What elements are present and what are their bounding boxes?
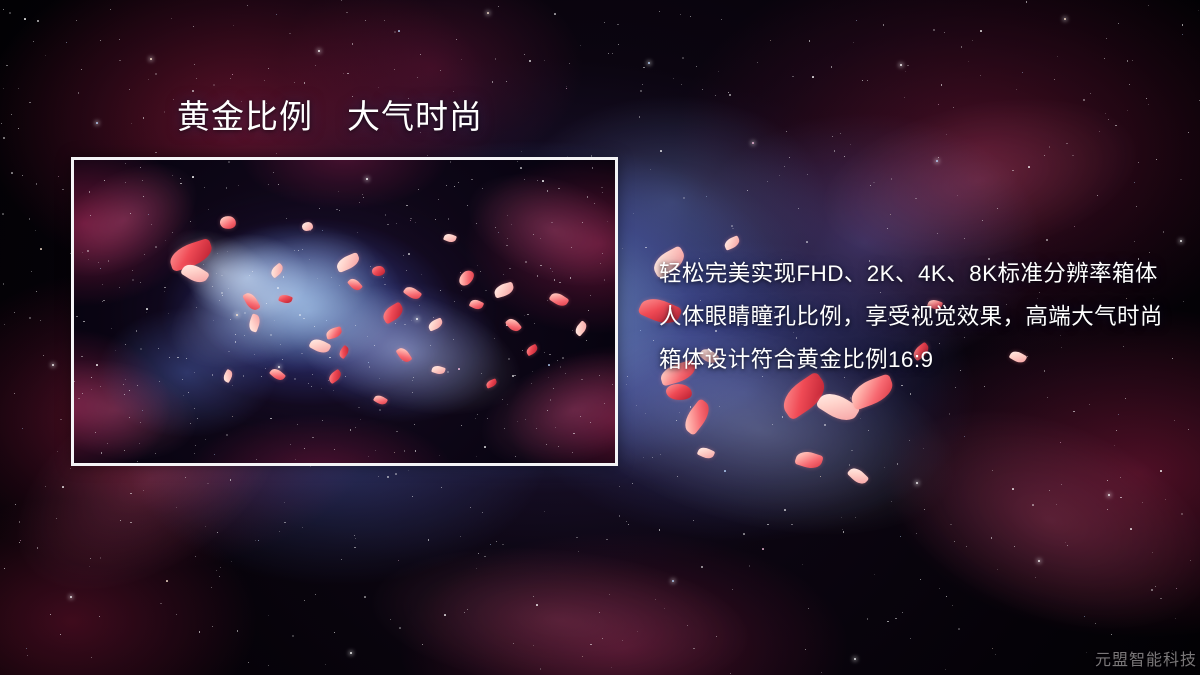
star-dot [35,230,37,232]
star-dot [40,248,42,250]
star-dot [302,527,303,528]
star-dot [1148,5,1149,6]
star-dot [1,123,2,124]
star-dot [354,547,355,548]
star-dot [1073,411,1075,413]
star-dot [566,86,567,87]
star-dot [992,648,993,649]
star-dot [440,70,441,71]
star-dot [653,340,654,341]
star-dot [923,448,924,449]
star-dot [268,665,269,666]
star-dot [626,521,627,522]
star-dot [76,20,78,22]
star-dot [938,104,939,105]
star-dot [984,386,985,387]
star-dot [4,324,5,325]
star-dot [991,537,992,538]
body-copy-line-3: 箱体设计符合黄金比例16:9 [659,338,1179,381]
star-dot [1035,577,1036,578]
star-dot [883,24,884,25]
star-dot [212,626,213,627]
star-dot [891,501,892,502]
star-dot [762,548,764,550]
star-dot [718,71,719,72]
star-dot [185,477,186,478]
star-dot [1151,589,1152,590]
star-dot [334,632,335,633]
star-dot [602,638,603,639]
star-dot [173,99,174,100]
star-dot [100,40,101,41]
star-dot [664,608,665,609]
star-dot [1057,56,1058,57]
star-dot [578,551,579,552]
star-dot [412,496,413,497]
rose-petal [815,387,861,427]
star-dot [1198,10,1199,11]
star-dot [1056,504,1057,505]
star-dot [284,522,285,523]
star-dot [29,102,30,103]
star-dot [544,511,545,512]
star-dot [232,74,233,75]
star-dot [958,628,960,630]
star-dot [860,418,861,419]
star-dot [395,473,397,475]
star-dot [767,181,768,182]
star-dot [460,536,461,537]
star-dot [599,612,600,613]
star-dot [399,627,401,629]
star-dot [487,12,489,14]
star-dot [855,517,856,518]
star-dot [843,531,844,532]
star-dot [318,50,320,52]
star-dot [1012,488,1014,490]
star-dot [66,42,67,43]
star-dot [1155,586,1156,587]
star-dot [150,58,152,60]
star-dot [350,652,352,654]
star-dot [862,80,863,81]
star-dot [268,68,269,69]
star-dot [884,467,885,468]
star-dot [304,82,305,83]
star-dot [730,673,731,674]
star-dot [521,151,522,152]
star-dot [805,649,806,650]
star-dot [576,537,578,539]
star-dot [1028,166,1030,168]
star-dot [148,79,149,80]
star-dot [910,638,911,639]
star-dot [216,570,217,571]
star-dot [982,220,983,221]
star-dot [1148,104,1149,105]
star-dot [702,89,703,90]
star-dot [354,535,355,536]
star-dot [444,614,446,616]
star-dot [70,596,72,598]
star-dot [1176,588,1177,589]
star-dot [582,656,583,657]
star-dot [953,107,954,108]
star-dot [1182,34,1183,35]
star-dot [752,142,754,144]
star-dot [659,529,660,530]
star-dot [1134,182,1135,183]
star-dot [384,20,385,21]
star-dot [900,64,902,66]
star-dot [910,393,911,394]
star-dot [590,644,591,645]
star-dot [679,412,680,413]
star-dot [99,616,100,617]
star-dot [91,657,92,658]
star-dot [701,566,702,567]
star-dot [643,457,644,458]
star-dot [950,524,951,525]
star-dot [946,596,947,597]
star-dot [70,468,71,469]
star-dot [808,608,809,609]
star-dot [40,320,41,321]
star-dot [696,66,697,67]
photo-content [74,160,615,463]
star-dot [36,183,38,185]
star-dot [166,580,168,582]
star-dot [194,64,195,65]
star-dot [279,531,280,532]
star-dot [724,470,726,472]
rose-petal [679,398,714,436]
star-dot [682,57,684,59]
star-dot [247,5,248,6]
star-dot [609,594,610,595]
star-dot [14,393,15,394]
star-dot [1175,618,1176,619]
body-copy: 轻松完美实现FHD、2K、4K、8K标准分辨率箱体 人体眼睛瞳孔比例，享受视觉效… [659,252,1179,381]
star-dot [715,95,716,96]
star-dot [390,619,391,620]
star-dot [1180,179,1182,181]
star-dot [470,507,471,508]
star-dot [673,78,674,79]
star-dot [961,46,963,48]
star-dot [52,364,54,366]
star-dot [995,654,996,655]
star-dot [341,0,342,1]
star-dot [387,476,388,477]
star-dot [628,524,629,525]
star-dot [626,384,627,385]
star-dot [1044,155,1045,156]
star-dot [171,18,172,19]
star-dot [840,133,842,135]
star-dot [640,90,641,91]
star-dot [478,553,479,554]
star-dot [636,405,637,406]
star-dot [422,644,423,645]
star-dot [482,512,483,513]
star-dot [693,520,694,521]
star-dot [352,96,353,97]
star-dot [347,73,348,74]
star-dot [60,634,61,635]
star-dot [219,576,220,577]
star-dot [645,413,646,414]
star-dot [809,40,810,41]
star-dot [566,88,567,89]
star-dot [37,20,38,21]
rose-petal [697,445,716,461]
star-dot [315,65,316,66]
star-dot [1012,170,1013,171]
star-dot [806,241,808,243]
star-dot [29,317,30,318]
star-dot [196,78,197,79]
star-dot [966,546,967,547]
star-dot [802,564,803,565]
photo-nebula-wisps [74,160,615,463]
star-dot [289,33,290,34]
star-dot [887,228,888,229]
star-dot [304,600,305,601]
star-dot [1067,545,1068,546]
star-dot [1095,623,1096,624]
star-dot [676,420,677,421]
star-dot [2,213,4,215]
star-dot [310,466,311,467]
star-dot [642,84,643,85]
star-dot [968,61,969,62]
star-dot [655,599,656,600]
star-dot [420,54,421,55]
rose-petal [794,448,824,471]
star-dot [484,556,486,558]
star-dot [89,566,90,567]
star-dot [506,81,507,82]
star-dot [949,413,951,415]
star-dot [900,536,901,537]
star-dot [1083,99,1084,100]
star-dot [690,406,691,407]
star-dot [743,533,745,535]
star-dot [231,561,232,562]
star-dot [36,291,37,292]
star-dot [467,609,468,610]
star-dot [789,157,790,158]
star-dot [1060,442,1061,443]
star-dot [1120,497,1121,498]
star-dot [779,175,780,176]
star-dot [1046,239,1047,240]
star-dot [453,91,454,92]
star-dot [831,66,832,67]
star-dot [964,436,965,437]
star-dot [706,196,707,197]
body-copy-line-2: 人体眼睛瞳孔比例，享受视觉效果，高端大气时尚 [659,295,1179,338]
star-dot [408,470,409,471]
star-dot [640,330,641,331]
star-dot [659,11,660,12]
star-dot [1127,60,1128,61]
star-dot [1014,546,1015,547]
star-dot [1134,241,1135,242]
star-dot [1180,240,1182,242]
body-copy-line-1: 轻松完美实现FHD、2K、4K、8K标准分辨率箱体 [659,252,1179,295]
star-dot [1174,420,1175,421]
star-dot [791,524,792,525]
star-dot [716,636,717,637]
page-title: 黄金比例 大气时尚 [177,99,483,135]
star-dot [608,53,609,54]
star-dot [1114,445,1115,446]
star-dot [276,14,277,15]
star-dot [719,406,720,407]
star-dot [1129,84,1130,85]
star-dot [660,150,662,152]
star-dot [980,75,981,76]
star-dot [29,218,30,219]
star-dot [849,464,851,466]
star-dot [660,454,661,455]
star-dot [417,77,418,78]
star-dot [841,517,842,518]
star-dot [1120,477,1121,478]
star-dot [652,457,653,458]
star-dot [1181,513,1182,514]
star-dot [31,271,32,272]
star-dot [398,560,399,561]
star-dot [1072,155,1074,157]
framed-photo [71,157,618,466]
star-dot [62,486,64,488]
star-dot [1118,414,1119,415]
star-dot [3,137,4,138]
star-dot [1136,206,1137,207]
star-dot [807,174,808,175]
star-dot [907,65,909,67]
star-dot [916,482,918,484]
star-dot [60,419,62,421]
rose-petal [665,382,693,401]
star-dot [648,62,650,64]
star-dot [622,640,623,641]
star-dot [1132,60,1133,61]
star-dot [45,486,46,487]
star-dot [237,630,239,632]
star-dot [992,470,993,471]
star-dot [1022,72,1023,73]
star-dot [394,69,395,70]
star-dot [248,662,249,663]
star-dot [4,568,5,569]
star-dot [772,424,773,425]
star-dot [192,90,193,91]
star-dot [936,160,938,162]
star-dot [637,631,638,632]
star-dot [100,557,102,559]
star-dot [606,539,607,540]
star-dot [683,197,684,198]
star-dot [798,208,799,209]
star-dot [1115,125,1116,126]
star-dot [3,88,4,89]
star-dot [355,538,356,539]
star-dot [205,526,206,527]
star-dot [844,156,845,157]
star-dot [784,166,785,167]
star-dot [749,565,750,566]
star-dot [897,463,898,464]
star-dot [1188,429,1189,430]
star-dot [81,69,82,70]
star-dot [770,40,771,41]
star-dot [20,540,21,541]
star-dot [1111,634,1112,635]
rose-petal [847,465,870,488]
star-dot [207,483,208,484]
star-dot [398,30,400,32]
star-dot [687,625,688,626]
star-dot [498,6,499,7]
star-dot [1105,113,1106,114]
star-dot [1146,98,1147,99]
star-dot [812,76,814,78]
star-dot [346,12,347,13]
star-dot [456,39,457,40]
star-dot [945,669,946,670]
star-dot [952,605,953,606]
star-dot [954,541,955,542]
star-dot [164,111,165,112]
star-dot [1064,18,1066,20]
star-dot [1125,398,1126,399]
star-dot [1107,509,1108,510]
star-dot [890,214,891,215]
star-dot [268,615,269,616]
star-dot [856,20,857,21]
star-dot [476,568,477,569]
star-dot [441,487,443,489]
star-dot [343,73,345,75]
star-dot [131,123,132,124]
star-dot [834,150,835,151]
star-dot [874,574,875,575]
star-dot [110,9,111,10]
star-dot [3,283,5,285]
star-dot [650,169,651,170]
star-dot [1116,430,1117,431]
star-dot [1061,484,1062,485]
star-dot [909,440,910,441]
star-dot [220,567,221,568]
star-dot [1026,1,1028,3]
star-dot [325,664,326,665]
star-dot [199,631,200,632]
star-dot [130,522,131,523]
star-dot [604,22,605,23]
star-dot [1084,616,1085,617]
star-dot [502,544,504,546]
star-dot [529,60,530,61]
star-dot [129,89,130,90]
star-dot [14,312,15,313]
star-dot [1107,480,1108,481]
star-dot [957,195,958,196]
